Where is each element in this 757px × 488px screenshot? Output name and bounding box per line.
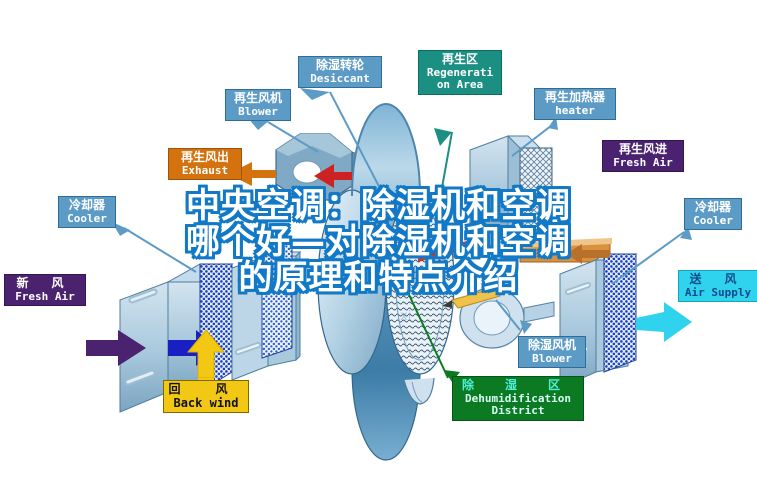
- label-desiccant-rotor: 除湿转轮 Desiccant: [298, 56, 382, 88]
- label-air-supply-cn: 送 风: [683, 273, 753, 286]
- label-back-wind-cn: 回 风: [168, 383, 244, 396]
- label-regeneration-area-en-1: Regenerati: [423, 67, 497, 79]
- label-dehumidification-blower-en: Blower: [523, 353, 581, 365]
- label-regeneration-blower-cn: 再生风机: [230, 92, 286, 105]
- label-cooler-left: 冷却器 Cooler: [58, 196, 116, 228]
- label-regeneration-heater-cn: 再生加热器: [539, 91, 611, 104]
- label-air-supply-en: Air Supply: [683, 287, 753, 299]
- label-back-wind: 回 风 Back wind: [163, 380, 249, 413]
- label-cooler-right-cn: 冷却器: [689, 201, 737, 214]
- label-regeneration-area-en-2: on Area: [423, 79, 497, 91]
- label-regeneration-area: 再生区 Regenerati on Area: [418, 50, 502, 95]
- label-regeneration-heater: 再生加热器 heater: [534, 88, 616, 120]
- label-regeneration-area-cn: 再生区: [423, 53, 497, 66]
- label-regeneration-air-inlet-cn: 再生风进: [607, 143, 679, 156]
- label-exhaust-cn: 再生风出: [173, 151, 237, 164]
- label-regeneration-blower-en: Blower: [230, 106, 286, 118]
- air-supply-arrow: [636, 302, 692, 342]
- label-regeneration-blower: 再生风机 Blower: [225, 89, 291, 121]
- label-dehumidification-district-cn: 除 湿 区: [457, 379, 579, 392]
- label-cooler-left-cn: 冷却器: [63, 199, 111, 212]
- dehumidifier-diagram: xi: [0, 0, 757, 488]
- label-dehumidification-district: 除 湿 区 Dehumidification District: [452, 376, 584, 421]
- label-fresh-air-inlet-en: Fresh Air: [9, 291, 81, 303]
- label-dehumidification-district-en-1: Dehumidification: [457, 393, 579, 405]
- label-fresh-air-inlet: 新 风 Fresh Air: [4, 274, 86, 306]
- label-regeneration-air-inlet: 再生风进 Fresh Air: [602, 140, 684, 172]
- label-dehumidification-blower-cn: 除湿风机: [523, 339, 581, 352]
- process-filter: [262, 240, 292, 358]
- label-desiccant-rotor-en: Desiccant: [303, 73, 377, 85]
- label-cooler-right: 冷却器 Cooler: [684, 198, 742, 230]
- label-regeneration-air-inlet-en: Fresh Air: [607, 157, 679, 169]
- label-dehumidification-blower: 除湿风机 Blower: [518, 336, 586, 368]
- label-air-supply: 送 风 Air Supply: [678, 270, 757, 302]
- label-dehumidification-district-en-2: District: [457, 405, 579, 417]
- label-desiccant-rotor-cn: 除湿转轮: [303, 59, 377, 72]
- label-cooler-right-en: Cooler: [689, 215, 737, 227]
- label-cooler-left-en: Cooler: [63, 213, 111, 225]
- svg-text:xi: xi: [400, 309, 411, 324]
- label-exhaust: 再生风出 Exhaust: [168, 148, 242, 180]
- label-regeneration-heater-en: heater: [539, 105, 611, 117]
- label-back-wind-en: Back wind: [168, 397, 244, 410]
- label-fresh-air-inlet-cn: 新 风: [9, 277, 81, 290]
- label-exhaust-en: Exhaust: [173, 165, 237, 177]
